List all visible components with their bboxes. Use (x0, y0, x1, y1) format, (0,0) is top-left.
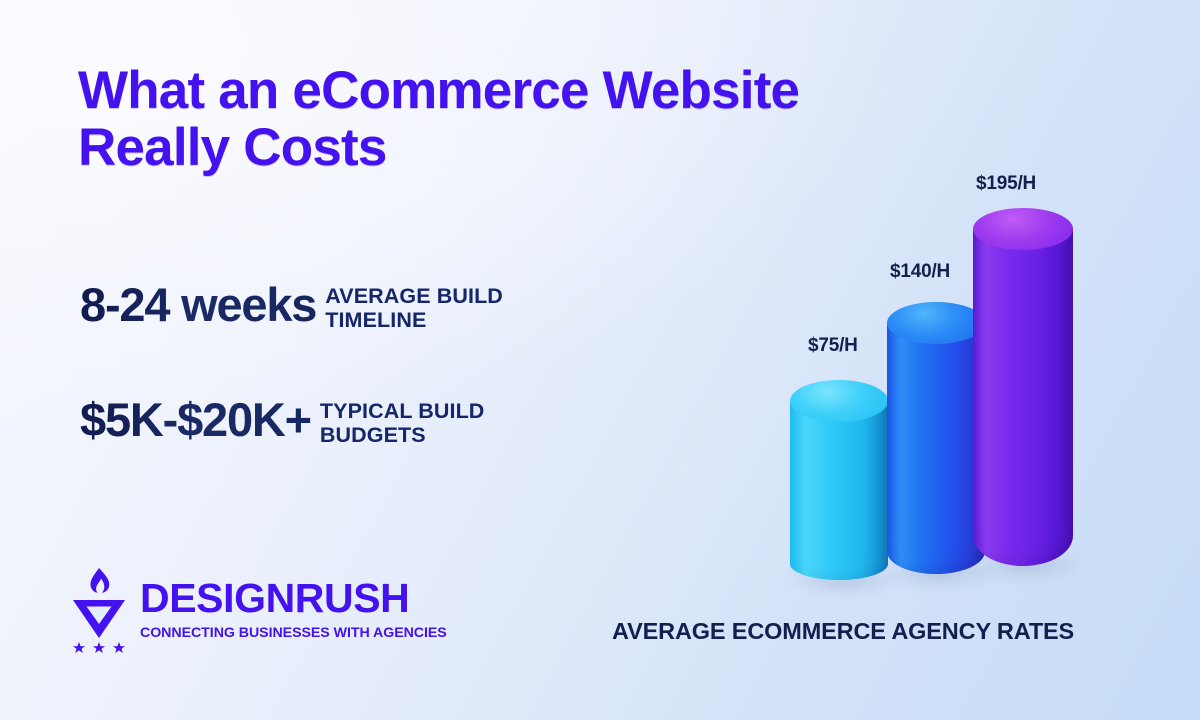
stat-timeline-label: AVERAGE BUILD TIMELINE (325, 284, 503, 332)
designrush-logo: DESIGNRUSH CONNECTING BUSINESSES WITH AG… (66, 565, 447, 653)
bar-low-body (790, 400, 888, 580)
bar-mid (887, 302, 985, 574)
bar-low-top (790, 380, 888, 422)
stat-budget-value: $5K-$20K+ (80, 396, 311, 443)
stat-budget-label-line-1: TYPICAL BUILD (320, 399, 485, 423)
headline-line-1: What an eCommerce Website (78, 61, 799, 120)
stat-budget: $5K-$20K+ TYPICAL BUILD BUDGETS (80, 396, 484, 447)
stat-timeline: 8-24 weeks AVERAGE BUILD TIMELINE (80, 281, 503, 332)
stat-timeline-label-line-2: TIMELINE (325, 308, 503, 332)
chart-caption: AVERAGE ECOMMERCE AGENCY RATES (612, 618, 1074, 645)
bar-high-body (973, 228, 1073, 566)
stat-budget-label: TYPICAL BUILD BUDGETS (320, 399, 485, 447)
stat-timeline-label-line-1: AVERAGE BUILD (325, 284, 503, 308)
bar-mid-body (887, 322, 985, 574)
bar-chart: $75/H $140/H $195/H (770, 160, 1100, 580)
bar-label-mid: $140/H (890, 261, 950, 283)
logo-tagline: CONNECTING BUSINESSES WITH AGENCIES (140, 626, 447, 640)
bar-low (790, 380, 888, 580)
stat-timeline-value: 8-24 weeks (80, 281, 316, 328)
logo-text-block: DESIGNRUSH CONNECTING BUSINESSES WITH AG… (140, 578, 447, 640)
stat-budget-label-line-2: BUDGETS (320, 423, 485, 447)
bar-mid-top (887, 302, 985, 344)
bar-high-top (973, 208, 1073, 250)
bar-label-low: $75/H (808, 335, 858, 357)
bar-high (973, 208, 1073, 566)
logo-wordmark: DESIGNRUSH (140, 578, 447, 619)
bar-label-high: $195/H (976, 173, 1036, 195)
torch-chevron-icon (66, 565, 132, 653)
